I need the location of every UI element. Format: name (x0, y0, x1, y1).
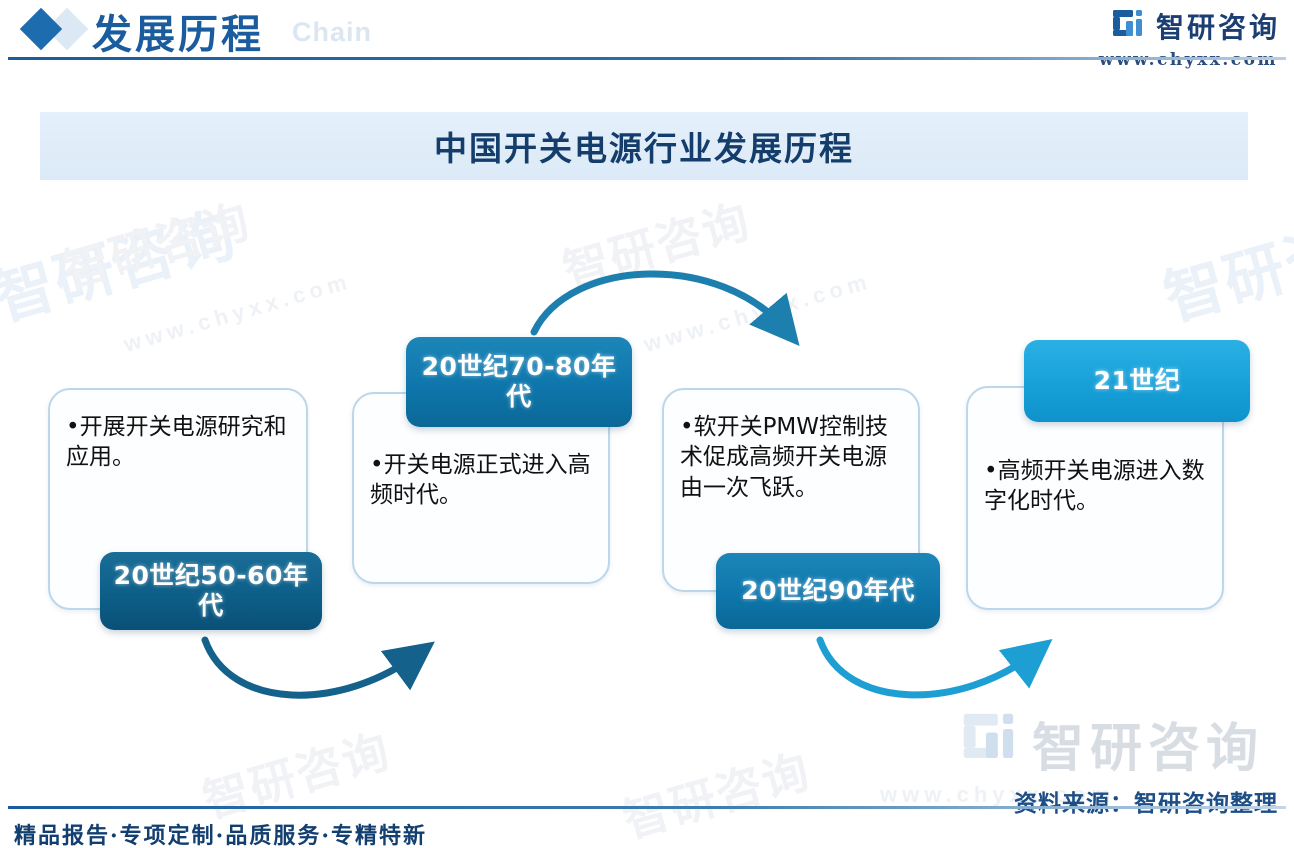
page-header: Chain 发展历程 智研咨询 www.chyxx.com (0, 0, 1294, 62)
background-watermark-url: www.chyxx.com (641, 268, 874, 358)
corner-watermark-icon (962, 712, 1020, 775)
footer-slogan: 精品报告·专项定制·品质服务·专精特新 (14, 818, 427, 848)
brand-logo: 智研咨询 (1112, 6, 1280, 46)
brand-url: www.chyxx.com (1099, 50, 1278, 70)
timeline-chip-3[interactable]: 20世纪90年代 (716, 553, 940, 629)
timeline-chip-1[interactable]: 20世纪50-60年代 (100, 552, 322, 630)
zhiyan-logo-icon (1112, 9, 1146, 43)
timeline-card-4-body: •高频开关电源进入数字化时代。 (984, 456, 1210, 517)
corner-watermark: 智研咨询 (962, 706, 1264, 781)
header-subtitle: Chain (292, 17, 372, 48)
background-watermark-url: www.chyxx.com (121, 268, 354, 358)
chart-title: 中国开关电源行业发展历程 (434, 122, 854, 170)
corner-watermark-text: 智研咨询 (1032, 706, 1264, 781)
background-watermark-logo: 智研咨询 (0, 186, 245, 338)
diamond-icon (22, 8, 100, 54)
timeline-card-1-body: •开展开关电源研究和应用。 (66, 412, 294, 473)
background-watermark-text: 智研咨询 (615, 735, 818, 848)
timeline-card-2-body: •开关电源正式进入高频时代。 (370, 450, 596, 511)
header-divider (8, 57, 1286, 60)
footer-divider (8, 806, 1286, 809)
background-watermark-logo: 智研咨询 (1153, 186, 1294, 338)
source-note: 资料来源：智研咨询整理 (1014, 784, 1278, 818)
chart-title-band: 中国开关电源行业发展历程 (40, 112, 1248, 180)
background-watermark-text: 智研咨询 (195, 715, 398, 831)
arrow-node2-to-node3 (534, 274, 786, 332)
timeline-chip-4[interactable]: 21世纪 (1024, 340, 1250, 422)
arrow-node3-to-node4 (820, 640, 1036, 695)
page-title: 发展历程 (92, 2, 264, 60)
brand-name: 智研咨询 (1156, 6, 1280, 46)
slide-page: 智研咨询 智研咨询 智研咨询 智研咨询 智研咨询 智研咨询 www.chyxx.… (0, 0, 1294, 848)
timeline-chip-2[interactable]: 20世纪70-80年代 (406, 337, 632, 427)
timeline-card-3-body: •软开关PMW控制技术促成高频开关电源由一次飞跃。 (680, 412, 906, 503)
arrow-node1-to-node2 (205, 640, 418, 695)
background-watermark-text: 智研咨询 (555, 185, 758, 301)
background-watermark-text: 智研咨询 (55, 185, 258, 301)
